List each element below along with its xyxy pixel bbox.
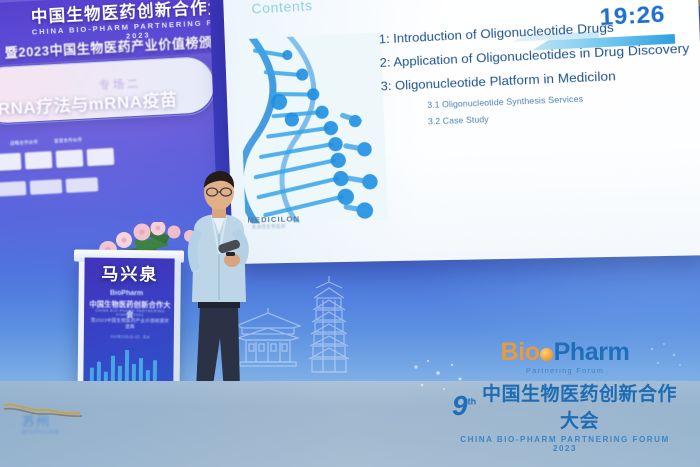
biopharm-bio-text: Bio <box>501 338 540 366</box>
sponsor-logo-box <box>0 152 21 170</box>
toc-item-2: 2: Application of Oligonucleotides in Dr… <box>379 41 684 70</box>
sponsor-logo-box <box>87 147 115 165</box>
podium-event-en: CHINA BIO-PHARM PARTNERING FORUM 2023 <box>90 309 170 318</box>
event-title-cn: 中国生物医药创新合作大会 <box>481 379 678 433</box>
event-title-row: 9th 中国生物医药创新合作大会 <box>452 379 678 433</box>
stage-cable <box>4 401 84 419</box>
sponsor-logo-box <box>25 151 53 169</box>
podium-date-line: 2023年11月1日-3日 · 苏州 <box>92 334 168 340</box>
toc-item-3: 3: Oligonucleotide Platform in Medicilon <box>380 66 685 94</box>
speaker-name: 马兴泉 <box>86 260 174 286</box>
event-branding: BioPharm Partnering Forum 9th 中国生物医药创新合作… <box>452 340 678 453</box>
sponsor-logo-box <box>66 177 99 193</box>
sponsor-logo-box <box>0 181 26 197</box>
conference-stage-photo: 中国生物医药创新合作大会 CHINA BIO-PHARM PARTNERING … <box>0 0 700 467</box>
biopharm-tagline: Partnering Forum <box>452 366 678 375</box>
biopharm-dot-icon <box>540 348 553 361</box>
speaker-watch <box>226 252 235 256</box>
event-ordinal: 9th <box>452 395 476 417</box>
sponsor-logo-box <box>30 179 63 195</box>
floor-logo-en: BIOPHARM <box>22 430 117 436</box>
podium-bar-graphic <box>86 342 172 383</box>
event-ordinal-suffix: th <box>468 396 477 406</box>
sponsor-logo-box <box>56 149 84 167</box>
projection-screen: Contents 19:26 <box>223 0 700 264</box>
podium-event-sub-cn: 暨2023中国生物医药产业价值榜颁奖盛典 <box>90 318 170 331</box>
biopharm-wordmark: BioPharm <box>452 340 678 365</box>
speaker-trousers <box>196 306 240 392</box>
toc-subitem-3-1: 3.1 Oligonucleotide Synthesis Services <box>427 90 686 110</box>
pagoda-tower-icon <box>306 276 352 376</box>
event-title-en: CHINA BIO-PHARM PARTNERING FORUM 2023 <box>452 435 678 453</box>
biopharm-pharm-text: Pharm <box>554 338 630 366</box>
podium-logo: BioPharm <box>110 290 143 297</box>
slide-contents-list: 1: Introduction of Oligonucleotide Drugs… <box>379 17 688 136</box>
event-ordinal-number: 9 <box>452 390 468 421</box>
toc-subitem-3-2: 3.2 Case Study <box>428 107 687 126</box>
